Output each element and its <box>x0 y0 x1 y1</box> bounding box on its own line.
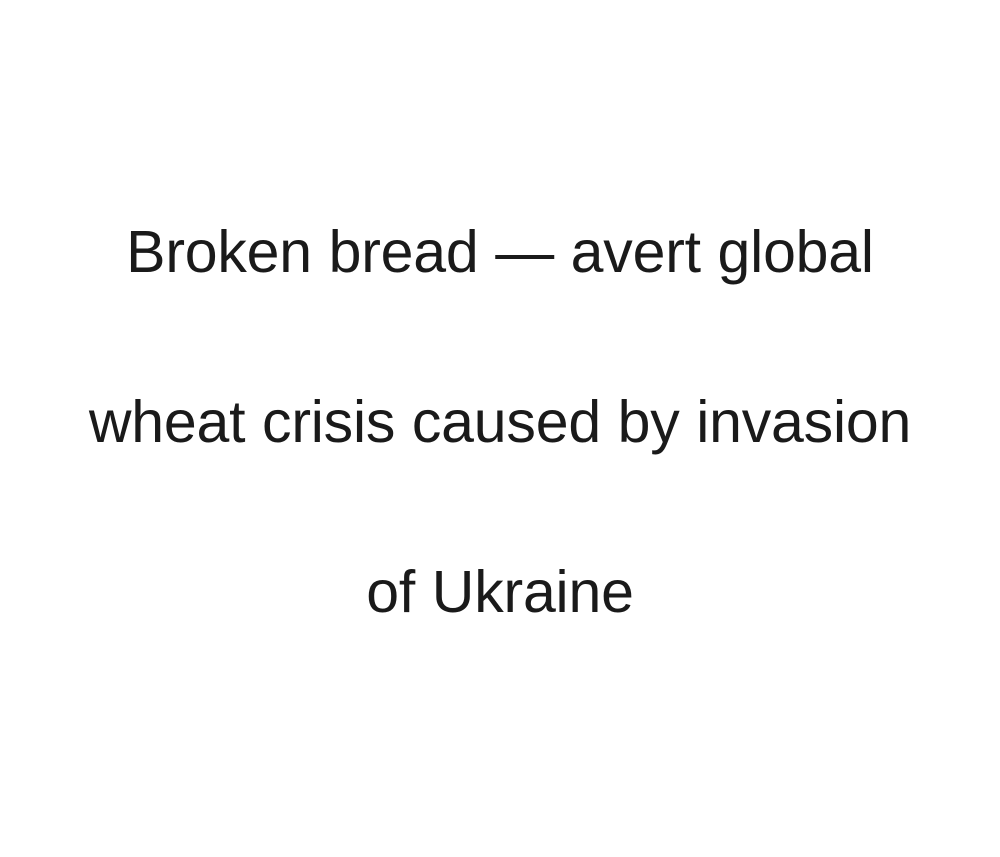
slide-canvas: Broken bread — avert global wheat crisis… <box>0 0 1000 857</box>
headline-line-2: wheat crisis caused by invasion <box>40 380 960 465</box>
headline-block: Broken bread — avert global wheat crisis… <box>40 125 960 720</box>
page-title: Broken bread — avert global wheat crisis… <box>40 125 960 720</box>
headline-line-3: of Ukraine <box>40 550 960 635</box>
headline-line-1: Broken bread — avert global <box>40 210 960 295</box>
